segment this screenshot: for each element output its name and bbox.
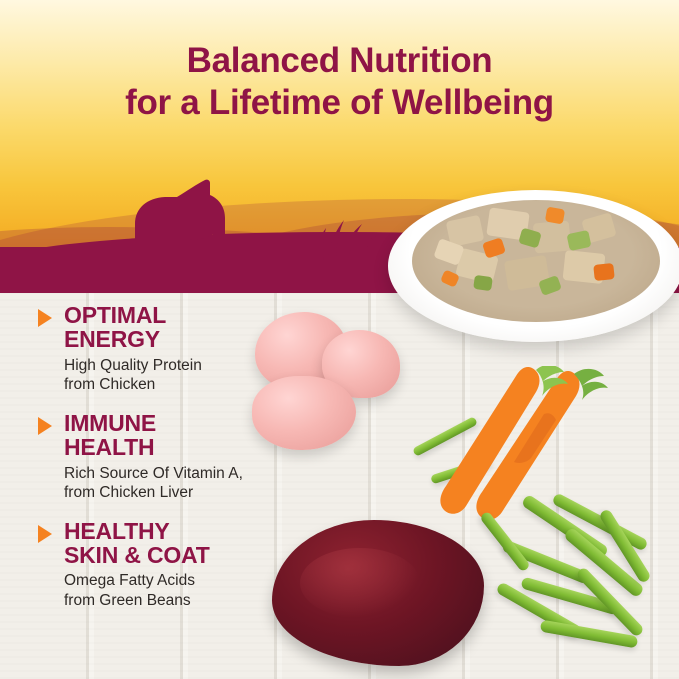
benefit-description: Rich Source Of Vitamin A, from Chicken L… [64,464,298,503]
benefit-title-line-2: SKIN & COAT [64,542,210,568]
benefit-desc-line-1: Omega Fatty Acids [64,572,195,589]
arrow-right-icon [38,309,52,327]
benefit-title: HEALTHY SKIN & COAT [64,519,298,568]
carrot-image [424,366,614,526]
benefit-title-line-1: HEALTHY [64,518,170,544]
headline: Balanced Nutrition for a Lifetime of Wel… [0,40,679,124]
headline-line-1: Balanced Nutrition [187,41,493,80]
benefit-desc-line-2: from Chicken Liver [64,484,193,501]
benefit-desc-line-1: Rich Source Of Vitamin A, [64,465,243,482]
benefit-desc-line-2: from Green Beans [64,592,191,609]
arrow-right-icon [38,525,52,543]
product-feature-graphic: Balanced Nutrition for a Lifetime of Wel… [0,0,679,679]
dog-silhouette-icon [113,178,241,260]
benefit-title-line-1: IMMUNE [64,410,156,436]
green-vegetable-dice [473,275,493,291]
arrow-right-icon [38,417,52,435]
benefit-item-healthy-skin-coat: HEALTHY SKIN & COAT Omega Fatty Acids fr… [38,519,298,611]
benefit-desc-line-1: High Quality Protein [64,357,202,374]
carrot-dice [593,263,615,281]
headline-line-2: for a Lifetime of Wellbeing [0,82,679,124]
benefit-desc-line-2: from Chicken [64,376,155,393]
benefit-title-line-2: ENERGY [64,326,160,352]
food-bowl-image [388,178,679,350]
benefit-title-line-2: HEALTH [64,434,154,460]
carrot-dice [545,207,565,225]
benefit-title-line-1: OPTIMAL [64,302,166,328]
liver-highlight [300,548,420,618]
benefit-description: Omega Fatty Acids from Green Beans [64,571,298,610]
grass-silhouette-icon [310,212,378,260]
